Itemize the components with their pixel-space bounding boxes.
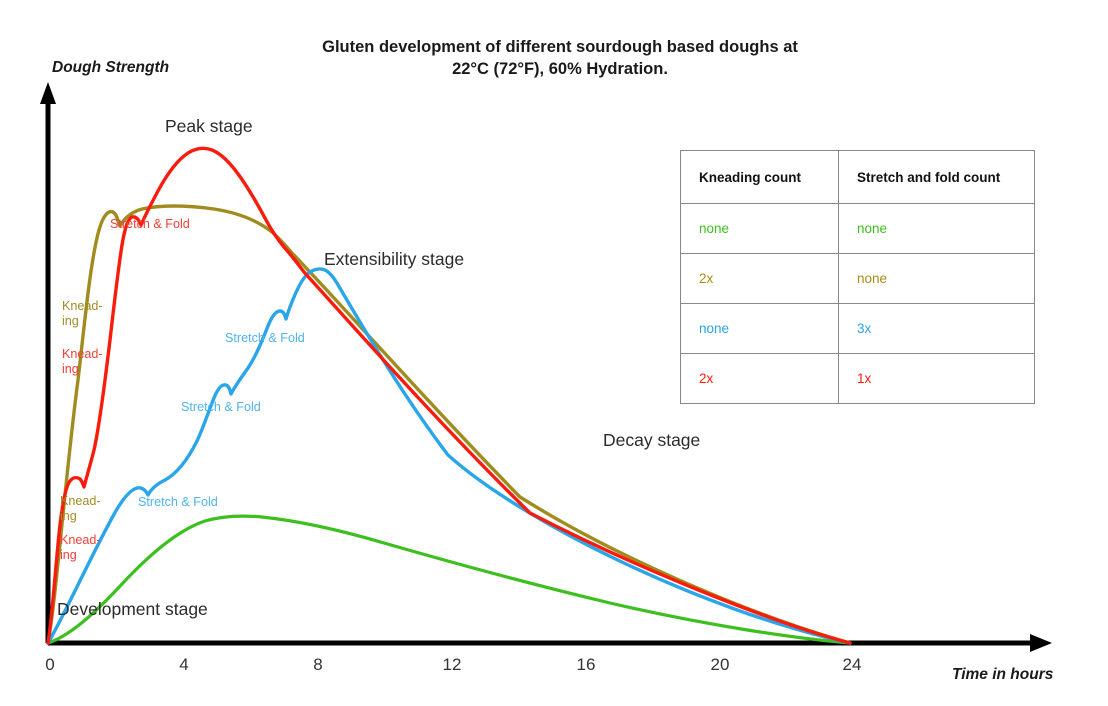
annotation-olive-kneading-lower: Knead- ing <box>60 494 101 523</box>
x-axis-title: Time in hours <box>952 666 1053 684</box>
x-axis <box>48 634 1052 652</box>
annotation-blue-stretch-fold-3: Stretch & Fold <box>225 331 305 346</box>
y-axis <box>40 82 56 643</box>
legend-table: Kneading count Stretch and fold count no… <box>680 150 1035 404</box>
annotation-red-stretch-fold: Stretch & Fold <box>110 217 190 232</box>
legend-header-row: Kneading count Stretch and fold count <box>681 151 1035 204</box>
annotation-blue-stretch-fold-2: Stretch & Fold <box>181 400 261 415</box>
y-axis-title: Dough Strength <box>52 59 169 77</box>
legend-cell-kneading: none <box>681 304 839 354</box>
x-tick-8: 8 <box>298 655 338 675</box>
x-tick-0: 0 <box>30 655 70 675</box>
legend-cell-kneading: 2x <box>681 254 839 304</box>
series-line-green <box>48 516 850 643</box>
legend-row-olive: 2x none <box>681 254 1035 304</box>
legend-row-blue: none 3x <box>681 304 1035 354</box>
legend-cell-kneading: 2x <box>681 354 839 404</box>
x-tick-24: 24 <box>832 655 872 675</box>
annotation-olive-kneading-upper: Knead- ing <box>62 299 103 328</box>
x-tick-20: 20 <box>700 655 740 675</box>
legend-cell-stretch: 1x <box>839 354 1035 404</box>
legend-row-red: 2x 1x <box>681 354 1035 404</box>
legend-header-kneading: Kneading count <box>681 151 839 204</box>
annotation-red-kneading-upper: Knead- ing <box>62 347 103 376</box>
annotation-red-kneading-lower: Knead- ing <box>60 533 101 562</box>
annotation-blue-stretch-fold-1: Stretch & Fold <box>138 495 218 510</box>
legend-header-stretch: Stretch and fold count <box>839 151 1035 204</box>
stage-label-extensibility: Extensibility stage <box>324 249 464 270</box>
stage-label-peak: Peak stage <box>165 116 253 137</box>
stage-label-development: Development stage <box>57 599 208 620</box>
legend-cell-kneading: none <box>681 204 839 254</box>
x-tick-16: 16 <box>566 655 606 675</box>
stage-label-decay: Decay stage <box>603 430 700 451</box>
legend-cell-stretch: none <box>839 254 1035 304</box>
x-tick-4: 4 <box>164 655 204 675</box>
legend-cell-stretch: none <box>839 204 1035 254</box>
legend-row-green: none none <box>681 204 1035 254</box>
legend-cell-stretch: 3x <box>839 304 1035 354</box>
x-tick-12: 12 <box>432 655 472 675</box>
